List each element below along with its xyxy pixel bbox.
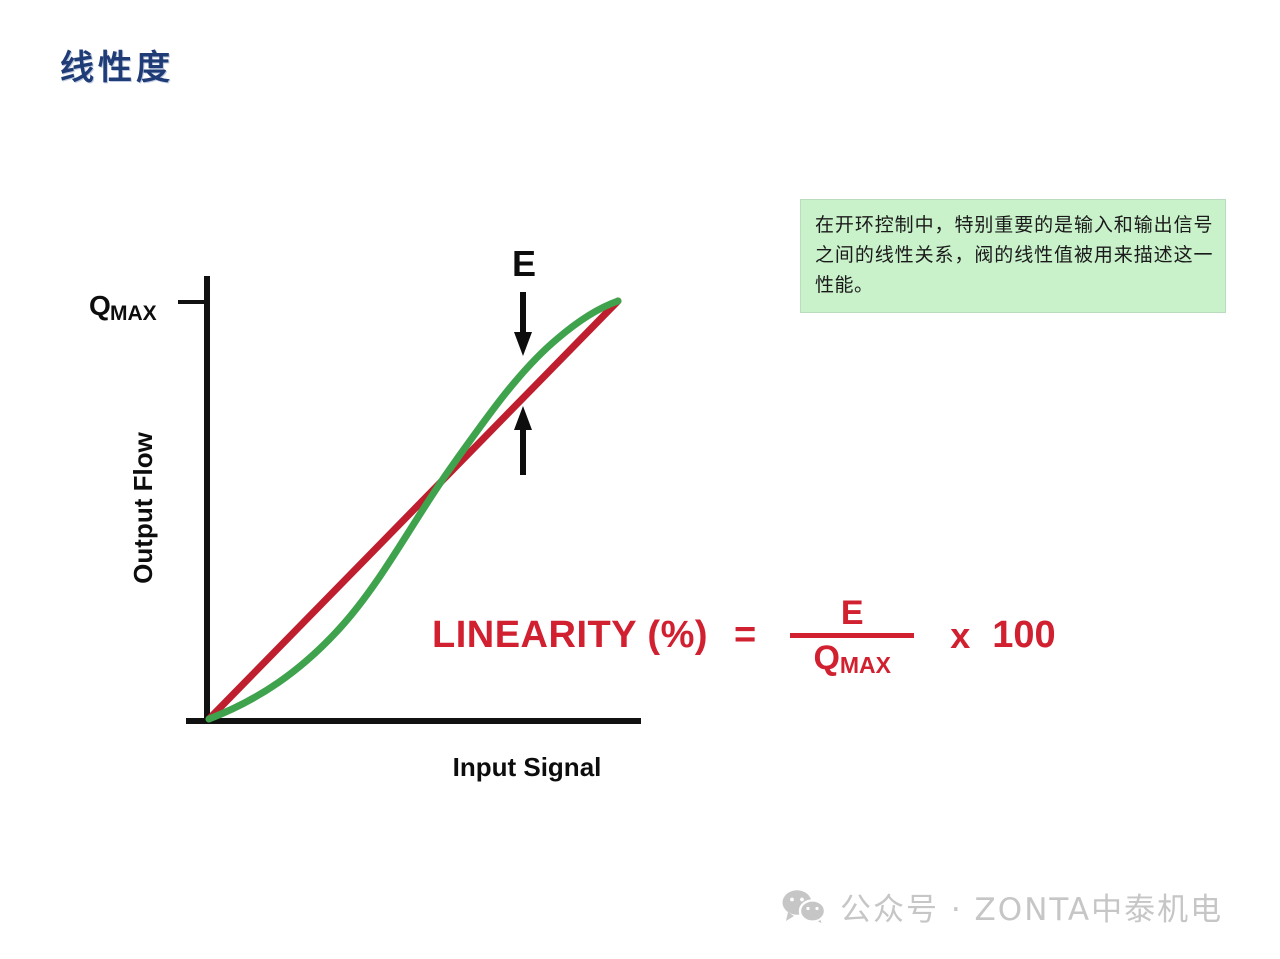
linearity-formula: LINEARITY (%) = E QMAX x 100 xyxy=(432,596,1056,675)
formula-multiply-sign: x xyxy=(950,615,970,657)
x-axis-label: Input Signal xyxy=(453,752,602,782)
formula-left-side: LINEARITY (%) xyxy=(432,614,708,657)
y-axis-label: Output Flow xyxy=(128,431,158,583)
y-axis-tick-label-max: MAX xyxy=(110,302,157,325)
formula-denominator-main: Q xyxy=(813,639,839,677)
chart-svg: E Q MAX Output Flow Input Signal xyxy=(0,0,1280,959)
formula-denominator-subscript: MAX xyxy=(840,652,891,678)
formula-denominator: QMAX xyxy=(813,638,891,675)
formula-equals-sign: = xyxy=(734,614,756,657)
formula-fraction: E QMAX xyxy=(790,596,914,675)
wechat-icon xyxy=(782,889,826,925)
deviation-label-e: E xyxy=(512,243,536,284)
footer-watermark: 公众号 · ZONTA中泰机电 xyxy=(782,884,1223,929)
footer-text: 公众号 · ZONTA中泰机电 xyxy=(840,884,1223,929)
deviation-arrow-down xyxy=(514,292,532,356)
deviation-arrow-up xyxy=(514,406,532,475)
linearity-chart: E Q MAX Output Flow Input Signal xyxy=(0,0,1280,959)
formula-factor: 100 xyxy=(992,614,1055,657)
y-axis-tick-label-q: Q xyxy=(89,290,111,321)
formula-numerator: E xyxy=(841,596,864,633)
